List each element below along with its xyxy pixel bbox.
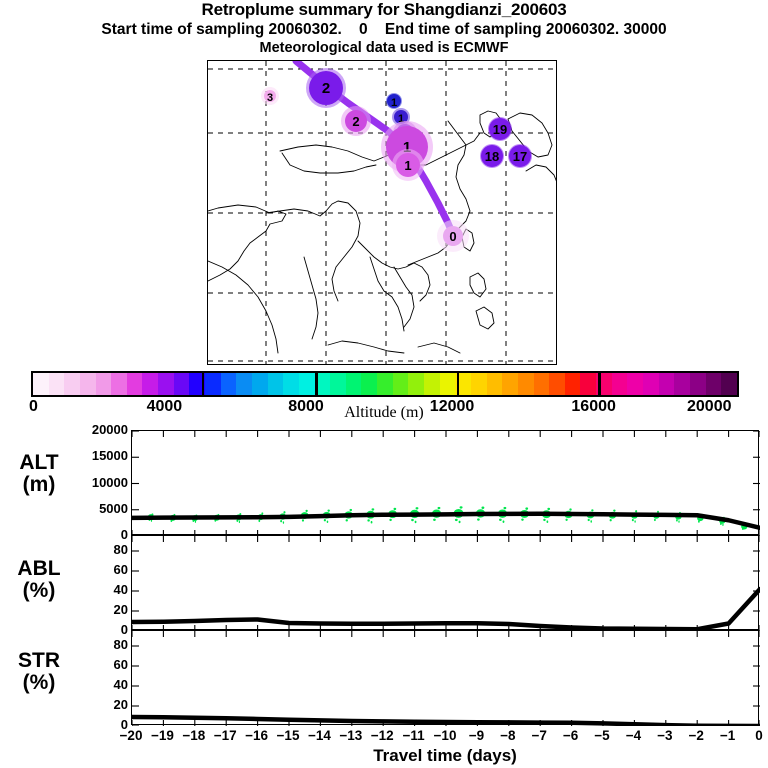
colorbar-divider	[598, 373, 601, 395]
colorbar-swatch	[96, 373, 112, 395]
colorbar-swatch	[393, 373, 409, 395]
abl-plot	[132, 536, 760, 631]
xtick-label: −10	[434, 728, 457, 743]
colorbar-swatch	[487, 373, 503, 395]
ytick-label: 15000	[92, 448, 128, 463]
colorbar-swatch	[627, 373, 643, 395]
alt-panel[interactable]	[131, 430, 759, 535]
colorbar-swatch	[408, 373, 424, 395]
abl-panel[interactable]	[131, 535, 759, 630]
colorbar-swatch	[440, 373, 456, 395]
colorbar-swatch	[252, 373, 268, 395]
colorbar-swatch	[49, 373, 65, 395]
colorbar-swatch	[534, 373, 550, 395]
xtick-label: −3	[657, 728, 672, 743]
svg-text:0: 0	[449, 229, 456, 244]
colorbar-swatch	[659, 373, 675, 395]
alt-plot	[132, 431, 760, 536]
alt-ytick-labels: 05000100001500020000	[70, 430, 128, 535]
meteorology-line: Meteorological data used is ECMWF	[0, 39, 768, 57]
colorbar-swatch	[612, 373, 628, 395]
xtick-label: −1	[720, 728, 735, 743]
colorbar-swatch	[80, 373, 96, 395]
xtick-label: −2	[688, 728, 703, 743]
xtick-label: −17	[214, 728, 237, 743]
xtick-label: −7	[531, 728, 546, 743]
colorbar-swatch	[283, 373, 299, 395]
map-canvas: 322111110191817	[208, 61, 557, 365]
svg-text:3: 3	[267, 92, 273, 104]
colorbar-swatch	[268, 373, 284, 395]
axis-label-line: ABL	[8, 558, 70, 580]
colorbar-swatch	[643, 373, 659, 395]
xtick-label: −11	[403, 728, 425, 743]
colorbar-swatch	[580, 373, 596, 395]
abl-ytick-labels: 020406080	[70, 535, 128, 630]
svg-text:18: 18	[485, 149, 499, 164]
ytick-label: 40	[114, 677, 128, 692]
str-panel[interactable]	[131, 630, 759, 725]
colorbar-swatch	[221, 373, 237, 395]
svg-text:1: 1	[391, 97, 397, 109]
travel-time-tick-labels: −20−19−18−17−16−15−14−13−12−11−10−9−8−7−…	[131, 728, 759, 746]
svg-text:17: 17	[513, 149, 527, 164]
page-title: Retroplume summary for Shangdianzi_20060…	[0, 0, 768, 20]
colorbar-divider	[202, 373, 205, 395]
xtick-label: −12	[371, 728, 394, 743]
colorbar-swatch	[549, 373, 565, 395]
colorbar-divider	[315, 373, 318, 395]
xtick-label: 0	[755, 728, 763, 743]
svg-text:2: 2	[352, 114, 359, 129]
axis-label-line: ALT	[8, 452, 70, 474]
xtick-label: −18	[182, 728, 205, 743]
colorbar-swatch	[721, 373, 737, 395]
xtick-label: −14	[308, 728, 331, 743]
colorbar-swatch	[330, 373, 346, 395]
colorbar-swatch	[502, 373, 518, 395]
str-plot	[132, 631, 760, 726]
colorbar-swatch	[236, 373, 252, 395]
retroplume-map[interactable]: 322111110191817	[207, 60, 557, 365]
colorbar-divider	[457, 373, 460, 395]
ytick-label: 40	[114, 582, 128, 597]
colorbar-swatch	[674, 373, 690, 395]
colorbar-swatch	[33, 373, 49, 395]
colorbar-swatch	[690, 373, 706, 395]
colorbar-swatch	[205, 373, 221, 395]
ytick-label: 10000	[92, 475, 128, 490]
colorbar-axis-label: Altitude (m)	[0, 404, 768, 422]
svg-text:2: 2	[322, 80, 330, 97]
colorbar-swatch	[361, 373, 377, 395]
colorbar-swatch	[565, 373, 581, 395]
xtick-label: −16	[245, 728, 268, 743]
xtick-label: −8	[500, 728, 515, 743]
str-ytick-labels: 020406080	[70, 630, 128, 725]
axis-label-line: (%)	[8, 672, 70, 694]
axis-label-line: (m)	[8, 474, 70, 496]
xtick-label: −5	[594, 728, 609, 743]
ytick-label: 80	[114, 542, 128, 557]
str-axis-label: STR(%)	[8, 650, 70, 694]
colorbar-swatch	[127, 373, 143, 395]
title-block: Retroplume summary for Shangdianzi_20060…	[0, 0, 768, 57]
axis-label-line: (%)	[8, 580, 70, 602]
colorbar-swatch	[64, 373, 80, 395]
xtick-label: −20	[120, 728, 143, 743]
xtick-label: −9	[469, 728, 484, 743]
ytick-label: 20000	[92, 422, 128, 437]
colorbar-swatch	[518, 373, 534, 395]
colorbar-swatch	[706, 373, 722, 395]
colorbar-swatch	[346, 373, 362, 395]
colorbar-swatch	[471, 373, 487, 395]
colorbar-swatch	[299, 373, 315, 395]
colorbar-swatch	[158, 373, 174, 395]
colorbar-swatch	[142, 373, 158, 395]
ytick-label: 80	[114, 637, 128, 652]
ytick-label: 60	[114, 562, 128, 577]
colorbar-gradient	[31, 371, 739, 397]
colorbar-swatch	[424, 373, 440, 395]
svg-text:1: 1	[404, 158, 411, 173]
axis-label-line: STR	[8, 650, 70, 672]
alt-axis-label: ALT(m)	[8, 452, 70, 496]
colorbar-swatch	[377, 373, 393, 395]
ytick-label: 5000	[99, 501, 128, 516]
xtick-label: −19	[151, 728, 174, 743]
ytick-label: 60	[114, 657, 128, 672]
xtick-label: −6	[563, 728, 578, 743]
sampling-time-line: Start time of sampling 20060302. 0 End t…	[0, 20, 768, 39]
ytick-label: 20	[114, 602, 128, 617]
xtick-label: −4	[626, 728, 641, 743]
altitude-colorbar[interactable]	[31, 371, 739, 397]
colorbar-swatch	[111, 373, 127, 395]
xtick-label: −15	[277, 728, 300, 743]
svg-text:19: 19	[493, 122, 507, 137]
xaxis-label: Travel time (days)	[131, 746, 759, 766]
ytick-label: 20	[114, 697, 128, 712]
colorbar-swatch	[174, 373, 190, 395]
abl-axis-label: ABL(%)	[8, 558, 70, 602]
xtick-label: −13	[339, 728, 362, 743]
